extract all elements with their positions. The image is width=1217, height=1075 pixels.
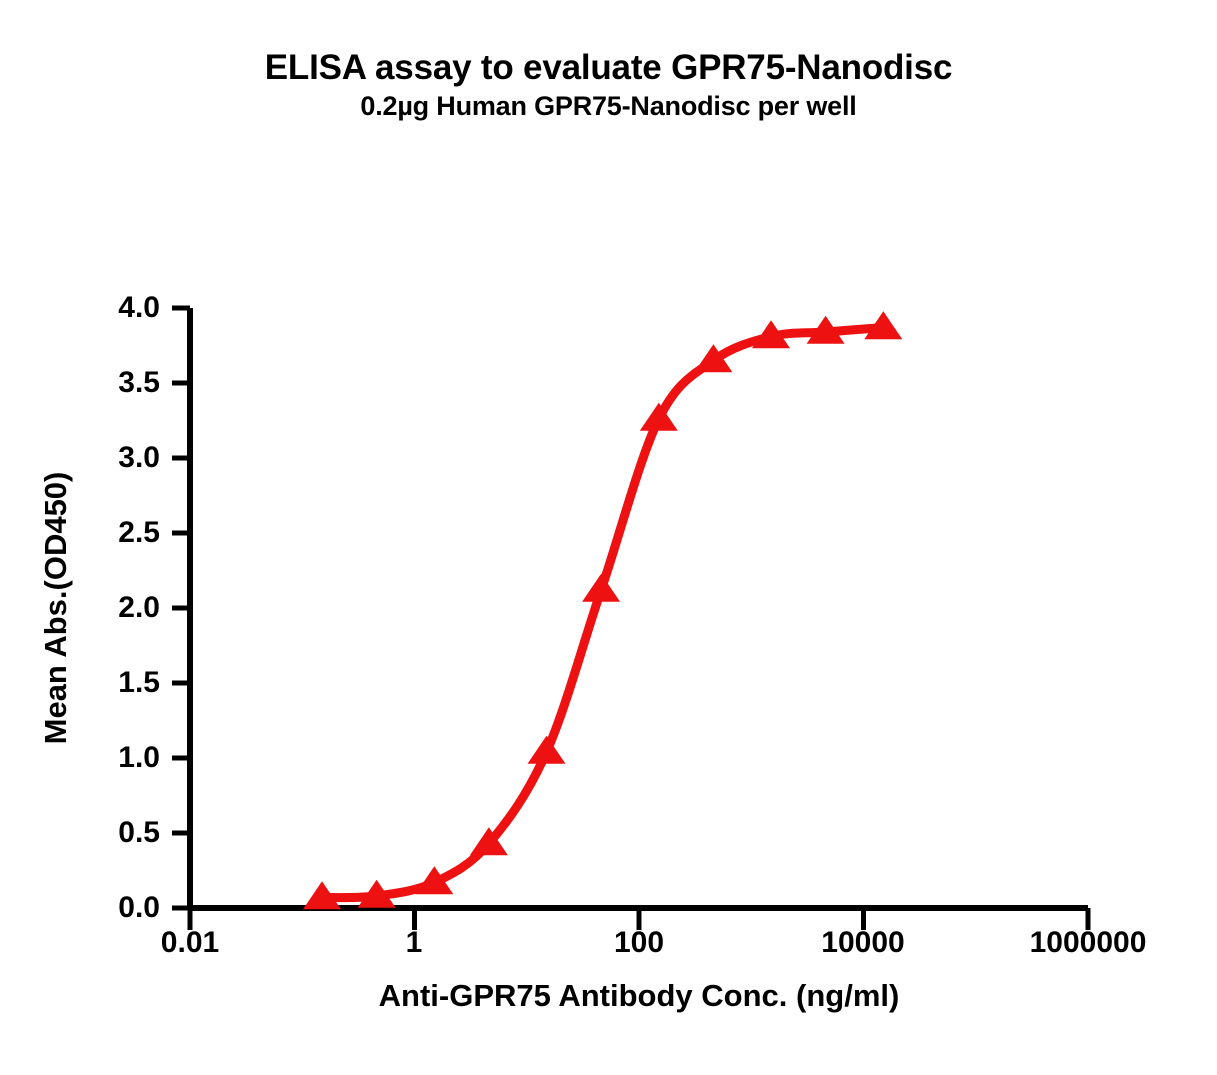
data-point-marker xyxy=(528,736,566,764)
data-point-markers xyxy=(303,311,902,909)
data-point-marker xyxy=(582,574,620,602)
data-curve xyxy=(322,328,883,898)
elisa-chart-figure: ELISA assay to evaluate GPR75-Nanodisc 0… xyxy=(0,0,1217,1075)
plot-area xyxy=(0,0,1217,1075)
x-axis-ticks xyxy=(190,908,1088,930)
data-point-marker xyxy=(640,403,678,431)
